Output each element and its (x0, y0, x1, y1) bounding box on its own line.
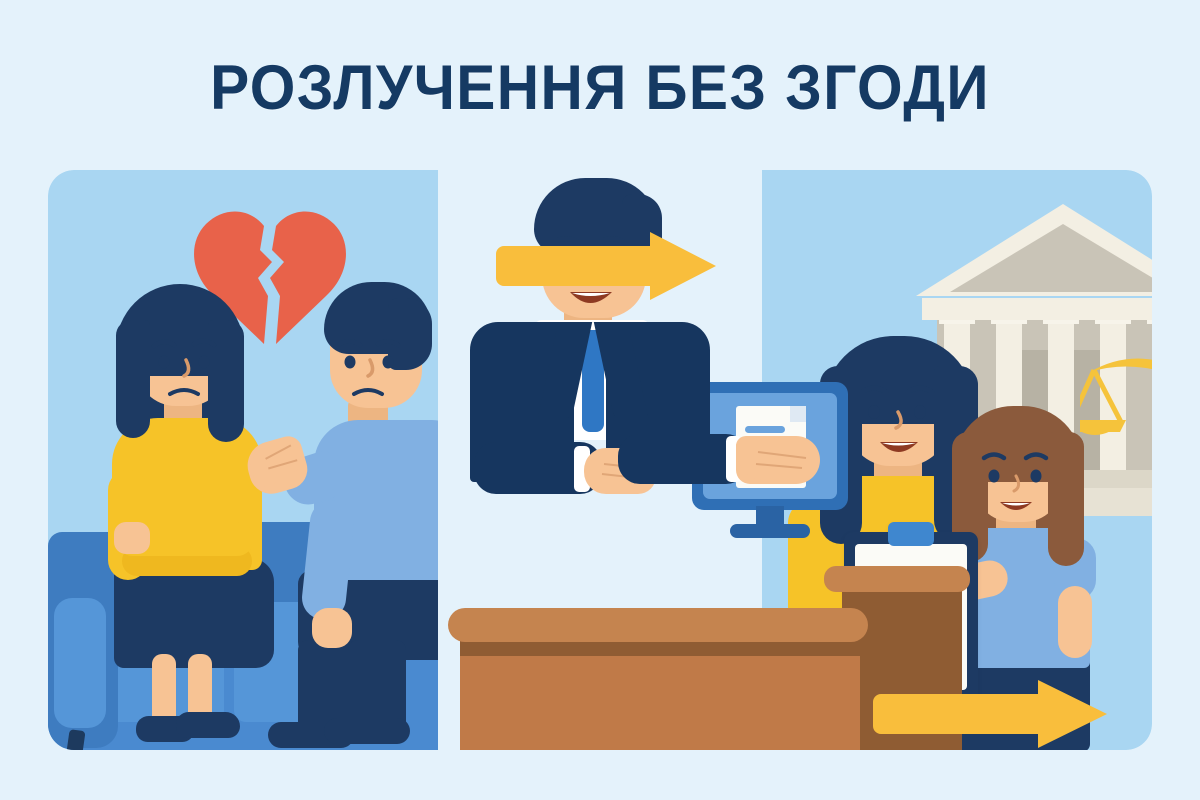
husband-facial-features (330, 322, 430, 420)
daughter-facial-features (974, 442, 1066, 530)
page-title: РОЗЛУЧЕННЯ БЕЗ ЗГОДИ (42, 52, 1158, 124)
desk-side-top (824, 566, 970, 592)
wife-shoe-right (176, 712, 240, 738)
desk-front-panel (460, 656, 860, 750)
panel-family-conflict (48, 170, 438, 750)
monitor-stand-base (730, 524, 810, 538)
courthouse-pediment (914, 200, 1152, 300)
document-line-1 (745, 426, 785, 433)
husband-hand-resting (312, 608, 352, 648)
lawyer-hand-right-gesture (736, 436, 820, 484)
mother-facial-features (848, 374, 952, 472)
desk-top (448, 608, 868, 642)
sofa-armrest-inner (54, 598, 106, 728)
document-fold-corner (790, 406, 806, 422)
courthouse-architrave (922, 298, 1152, 320)
scales-of-justice-icon (1080, 320, 1152, 500)
daughter-arm-right (1058, 586, 1092, 658)
wife-hand (114, 522, 150, 554)
wife-facial-features (136, 320, 236, 418)
illustration-canvas: РОЗЛУЧЕННЯ БЕЗ ЗГОДИ (0, 0, 1200, 800)
arrow-bottom (863, 678, 1113, 750)
scene-frame (48, 170, 1152, 750)
husband-foot-right (324, 718, 410, 744)
arrow-top (490, 230, 720, 302)
